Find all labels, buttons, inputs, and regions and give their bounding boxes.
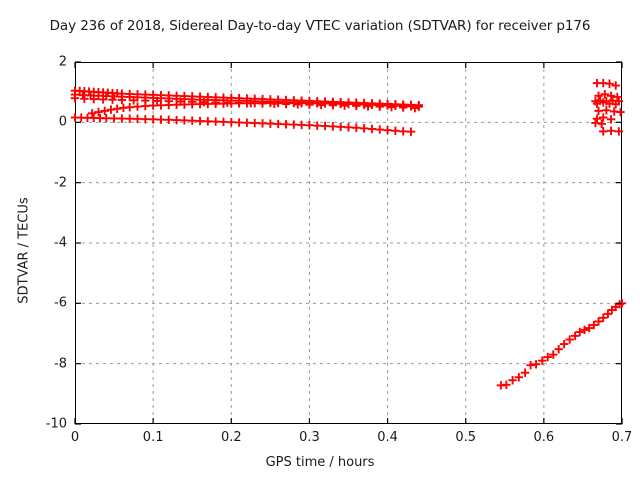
chart-title: Day 236 of 2018, Sidereal Day-to-day VTE…	[0, 18, 640, 34]
x-tick-label: 0.4	[358, 430, 418, 445]
chart-container: Day 236 of 2018, Sidereal Day-to-day VTE…	[0, 0, 640, 480]
x-tick-label: 0.3	[279, 430, 339, 445]
x-axis-title: GPS time / hours	[0, 455, 640, 470]
y-tick-label: 0	[9, 115, 67, 130]
x-tick-label: 0.6	[514, 430, 574, 445]
plot-frame	[75, 62, 622, 424]
x-tick-label: 0.5	[436, 430, 496, 445]
x-tick-label: 0.7	[592, 430, 640, 445]
x-tick-label: 0	[45, 430, 105, 445]
x-tick-label: 0.2	[201, 430, 261, 445]
y-axis-title: SDTVAR / TECUs	[17, 131, 32, 371]
y-tick-label: 2	[9, 55, 67, 70]
x-tick-label: 0.1	[123, 430, 183, 445]
